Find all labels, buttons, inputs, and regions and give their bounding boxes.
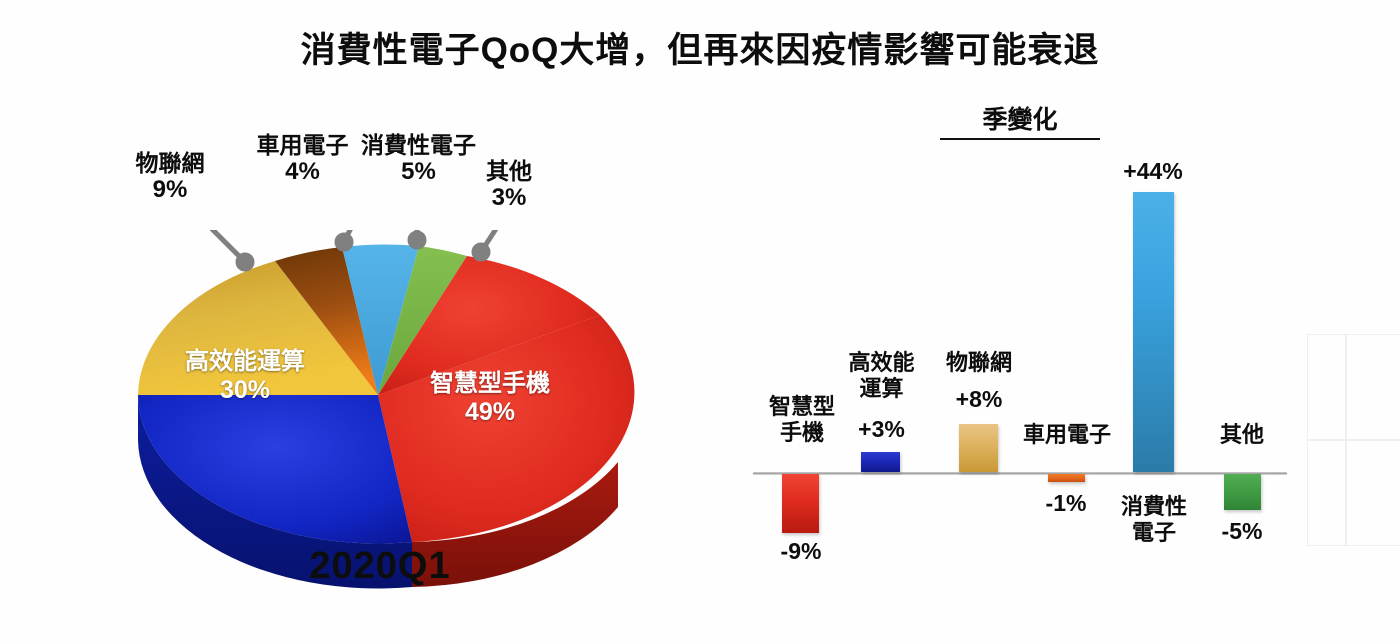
bar-hpc [861,452,900,472]
bar-category-consumer: 消費性 電子 [1105,494,1203,546]
pie-callout-other-value: 3% [465,184,553,212]
leader-dot-other [474,245,488,259]
pie-slices-top [138,245,634,544]
bar-iot [959,424,998,472]
bar-value-iot: +8% [930,386,1028,413]
bar-category-smartphone-line2: 手機 [780,420,824,445]
pie-callout-other: 其他 3% [465,158,553,212]
bar-category-hpc-line1: 高效能 [848,350,914,375]
slide-canvas: 消費性電子QoQ大增，但再來因疫情影響可能衰退 [0,0,1400,644]
bar-consumer [1133,192,1174,472]
bar-category-iot: 物聯網 [930,350,1028,376]
bar-category-automotive: 車用電子 [1012,422,1122,448]
pie-callout-consumer-name: 消費性電子 [351,132,486,158]
pie-callout-other-name: 其他 [465,158,553,184]
page-title: 消費性電子QoQ大增，但再來因疫情影響可能衰退 [0,22,1400,73]
bar-other [1224,474,1261,510]
pie-chart-svg [110,230,670,590]
leader-dot-consumer [410,233,424,247]
pie-chart-caption: 2020Q1 [250,545,510,588]
bar-category-other: 其他 [1198,422,1286,448]
bar-category-hpc-line2: 運算 [859,376,903,401]
bar-smartphone [782,474,819,533]
bar-value-consumer: +44% [1103,158,1203,185]
bar-chart: 季變化 智慧型 手機 高效能 運算 物聯網 車用電子 消費性 電子 其他 [740,100,1360,620]
bar-automotive [1048,474,1085,482]
pie-callout-iot-value: 9% [105,176,235,204]
bar-value-hpc: +3% [834,416,929,443]
bar-category-hpc: 高效能 運算 [834,350,929,402]
bar-category-smartphone-line1: 智慧型 [769,394,835,419]
bar-category-consumer-line1: 消費性 [1121,494,1187,519]
pie-callout-iot-name: 物聯網 [105,150,235,176]
bar-category-consumer-line2: 電子 [1132,520,1176,545]
leader-dot-automotive [337,235,351,249]
bar-value-automotive: -1% [1018,490,1114,517]
pie-chart: 高效能運算 30% 智慧型手機 49% 物聯網 9% 車用電子 4% 消費性電子… [110,230,670,590]
leader-dot-iot [238,255,252,269]
bar-value-other: -5% [1196,518,1288,545]
bar-value-smartphone: -9% [753,538,849,565]
pie-callout-automotive-name: 車用電子 [235,132,370,158]
bar-chart-zero-axis [753,472,1287,475]
pie-callout-automotive: 車用電子 4% [235,132,370,186]
pie-callout-iot: 物聯網 9% [105,150,235,204]
bar-chart-title: 季變化 [940,100,1100,140]
pie-callout-automotive-value: 4% [235,158,370,186]
